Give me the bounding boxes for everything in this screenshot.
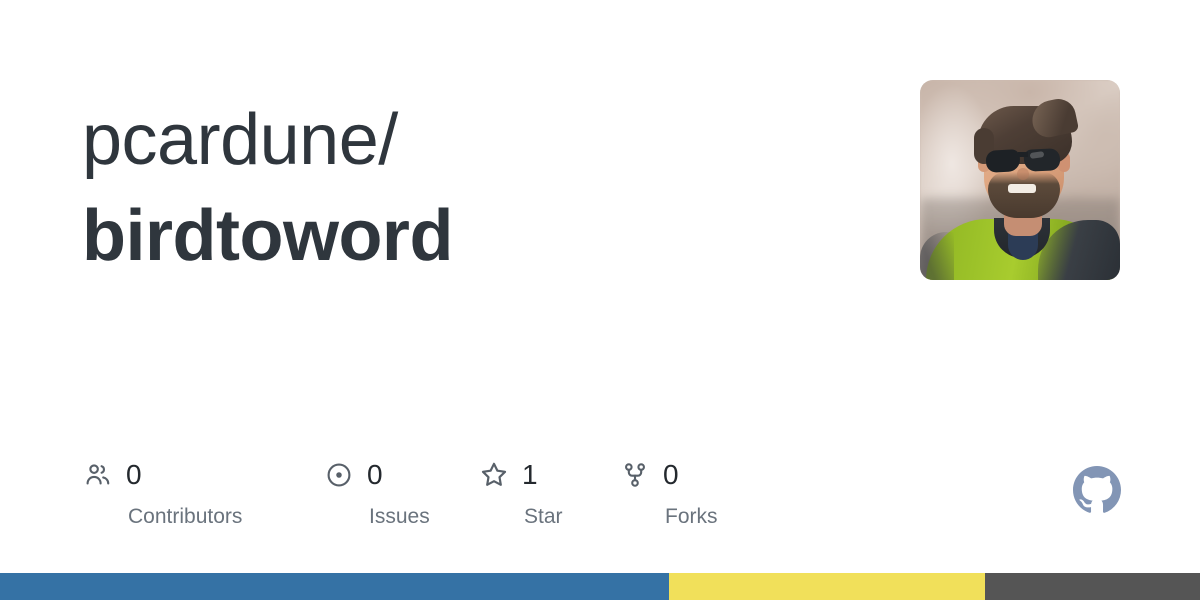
page-title: pcardune/ birdtoword [82,92,842,284]
language-segment-1 [0,573,669,600]
avatar-nose [1017,168,1029,180]
repo-owner: pcardune/ [82,92,842,188]
stat-forks: 0 Forks [619,455,739,530]
language-bar [0,573,1200,600]
stat-star-top: 1 [478,455,619,495]
people-icon [82,459,114,491]
avatar-mouth [1008,184,1036,193]
github-octocat-icon [1073,466,1121,514]
stat-star: 1 Star [478,455,619,530]
avatar-sunglasses-bridge [1018,152,1028,157]
fork-icon [619,459,651,491]
issue-opened-icon [323,459,355,491]
stat-issues-value: 0 [367,459,383,491]
stat-forks-value: 0 [663,459,679,491]
stat-contributors-label: Contributors [128,504,323,530]
stat-contributors-value: 0 [126,459,142,491]
stat-contributors: 0 Contributors [82,455,323,530]
repo-name: birdtoword [82,188,842,284]
repo-stats: 0 Contributors 0 Issues [82,455,739,530]
star-icon [478,459,510,491]
stat-issues-label: Issues [369,504,478,530]
language-segment-2 [669,573,985,600]
stat-contributors-top: 0 [82,455,323,495]
stat-issues: 0 Issues [323,455,478,530]
avatar [920,80,1120,280]
language-segment-3 [985,573,1200,600]
stat-forks-label: Forks [665,504,739,530]
stat-forks-top: 0 [619,455,739,495]
stat-star-value: 1 [522,459,538,491]
stat-issues-top: 0 [323,455,478,495]
stat-star-label: Star [524,504,619,530]
github-repo-social-card: pcardune/ birdtoword [0,0,1200,600]
